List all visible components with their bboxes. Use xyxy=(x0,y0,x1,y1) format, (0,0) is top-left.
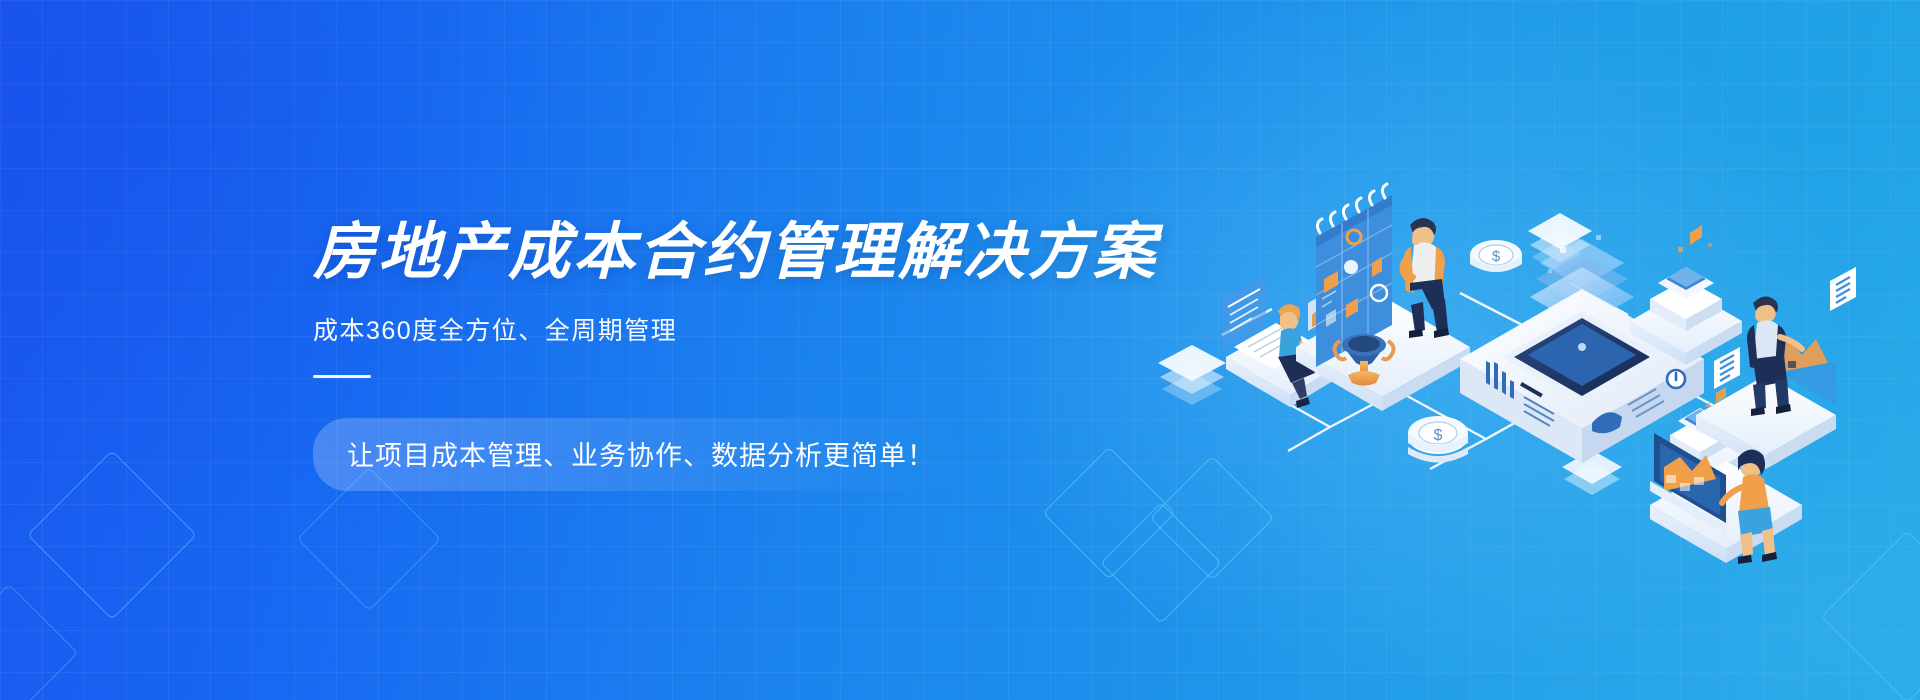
document-card xyxy=(1830,267,1856,311)
decorative-diamond xyxy=(0,584,78,700)
glow-particles xyxy=(1678,225,1712,252)
decorative-diamond xyxy=(1821,531,1920,700)
decorative-diamond xyxy=(27,450,197,620)
hero-copy-block: 房地产成本合约管理解决方案 成本360度全方位、全周期管理 让项目成本管理、业务… xyxy=(313,220,1073,491)
svg-text:$: $ xyxy=(1492,248,1501,265)
hero-tagline-pill: 让项目成本管理、业务协作、数据分析更简单！ xyxy=(313,418,969,491)
page-title: 房地产成本合约管理解决方案 xyxy=(313,220,1073,287)
coin-stack: $ xyxy=(1408,416,1468,463)
hero-subtitle: 成本360度全方位、全周期管理 xyxy=(313,311,1073,347)
document-card xyxy=(1714,347,1740,389)
title-divider xyxy=(313,375,371,378)
coin-stack: $ xyxy=(1470,240,1522,272)
svg-text:$: $ xyxy=(1434,427,1443,444)
floating-layers xyxy=(1158,345,1226,405)
hero-illustration: $ $ xyxy=(1130,175,1850,525)
hero-banner: 房地产成本合约管理解决方案 成本360度全方位、全周期管理 让项目成本管理、业务… xyxy=(0,0,1920,700)
